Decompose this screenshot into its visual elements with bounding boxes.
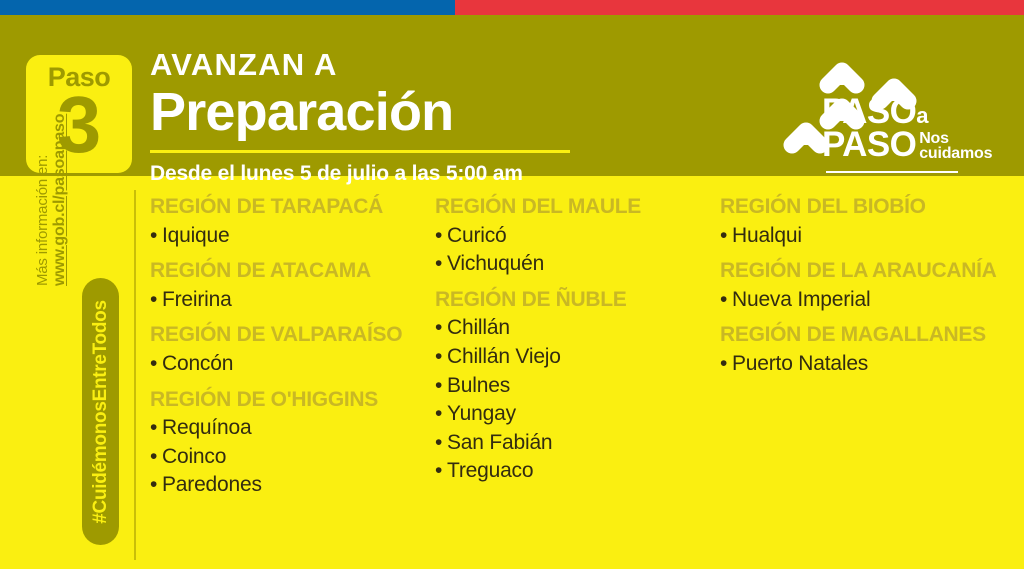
bullet-icon: • [435,457,447,486]
comuna-label: Hualqui [732,224,802,247]
region-column-2: REGIÓN DEL MAULE•Curicó•VichuquénREGIÓN … [435,196,720,558]
region-title: REGIÓN DE MAGALLANES [720,324,1018,347]
bullet-icon: • [435,314,447,343]
comuna-item: •Freirina [150,286,435,315]
header-divider [150,150,570,153]
comuna-label: Yungay [447,402,516,425]
bullet-icon: • [150,222,162,251]
region-block: REGIÓN DE O'HIGGINS•Requínoa•Coinco•Pare… [150,389,435,500]
comuna-item: •Chillán [435,314,720,343]
comuna-label: Chillán Viejo [447,345,561,368]
bullet-icon: • [435,400,447,429]
header-date: Desde el lunes 5 de julio a las 5:00 am [150,162,760,185]
comuna-label: Puerto Natales [732,352,868,375]
region-title: REGIÓN DE VALPARAÍSO [150,324,435,347]
comuna-item: •Vichuquén [435,250,720,279]
bullet-icon: • [435,250,447,279]
bullet-icon: • [150,443,162,472]
hashtag-label: #CuidémonosEntreTodos [90,300,112,523]
comuna-item: •Hualqui [720,222,1018,251]
bullet-icon: • [435,429,447,458]
region-title: REGIÓN DE TARAPACÁ [150,196,435,219]
region-column-3: REGIÓN DEL BIOBÍO•HualquiREGIÓN DE LA AR… [720,196,1018,558]
region-block: REGIÓN DE LA ARAUCANÍA•Nueva Imperial [720,260,1018,314]
comuna-item: •Iquique [150,222,435,251]
bullet-icon: • [150,471,162,500]
bullet-icon: • [720,286,732,315]
comuna-item: •Paredones [150,471,435,500]
header-text-block: AVANZAN A Preparación Desde el lunes 5 d… [150,49,760,185]
comuna-item: •Requínoa [150,414,435,443]
comuna-item: •Puerto Natales [720,350,1018,379]
logo-tagline-line-2: cuidamos [919,145,992,162]
comuna-item: •Coinco [150,443,435,472]
logo-a: a [916,103,928,128]
comuna-label: Curicó [447,224,506,247]
flag-stripe [0,0,1024,15]
region-block: REGIÓN DE MAGALLANES•Puerto Natales [720,324,1018,378]
comuna-item: •Treguaco [435,457,720,486]
region-title: REGIÓN DE O'HIGGINS [150,389,435,412]
comuna-label: Chillán [447,316,510,339]
bullet-icon: • [720,350,732,379]
logo-tagline: Noscuidamos [919,131,992,162]
comuna-item: •San Fabián [435,429,720,458]
comuna-item: •Bulnes [435,372,720,401]
more-info-text: Más información en: www.gob.cl/pasoapaso [34,76,70,286]
comuna-item: •Curicó [435,222,720,251]
region-title: REGIÓN DE ÑUBLE [435,289,720,312]
chevron-top-left-icon [828,71,856,85]
page-title: Preparación [150,84,760,140]
comuna-item: •Concón [150,350,435,379]
region-block: REGIÓN DEL MAULE•Curicó•Vichuquén [435,196,720,279]
region-title: REGIÓN DE ATACAMA [150,260,435,283]
region-title: REGIÓN DEL MAULE [435,196,720,219]
comuna-label: Treguaco [447,459,533,482]
region-block: REGIÓN DE ÑUBLE•Chillán•Chillán Viejo•Bu… [435,289,720,486]
comuna-label: San Fabián [447,431,552,454]
region-title: REGIÓN DE LA ARAUCANÍA [720,260,1018,283]
bullet-icon: • [150,414,162,443]
comuna-label: Concón [162,352,233,375]
logo-wordmark: PASOa PASONoscuidamos [822,96,992,162]
more-info-label: Más información en: [34,76,51,286]
bullet-icon: • [720,222,732,251]
bullet-icon: • [150,350,162,379]
bullet-icon: • [435,343,447,372]
more-info-url[interactable]: www.gob.cl/pasoapaso [51,76,69,286]
comuna-label: Nueva Imperial [732,288,870,311]
comuna-item: •Nueva Imperial [720,286,1018,315]
comuna-label: Coinco [162,445,226,468]
region-column-1: REGIÓN DE TARAPACÁ•IquiqueREGIÓN DE ATAC… [150,196,435,558]
comuna-item: •Chillán Viejo [435,343,720,372]
bullet-icon: • [435,222,447,251]
comuna-label: Paredones [162,473,262,496]
logo-tagline-line-1: Nos [919,130,949,147]
logo-line-2: PASONoscuidamos [822,129,992,162]
region-block: REGIÓN DEL BIOBÍO•Hualqui [720,196,1018,250]
comuna-label: Iquique [162,224,230,247]
logo-underline [826,171,958,173]
header-band: Paso 3 AVANZAN A Preparación Desde el lu… [0,15,1024,176]
bullet-icon: • [435,372,447,401]
flag-stripe-blue [0,0,455,15]
region-block: REGIÓN DE ATACAMA•Freirina [150,260,435,314]
comuna-label: Vichuquén [447,252,544,275]
comuna-label: Bulnes [447,374,510,397]
paso-a-paso-poster: Paso 3 AVANZAN A Preparación Desde el lu… [0,0,1024,569]
logo-paso-2: PASO [822,125,916,164]
rail-vertical-divider [134,190,136,560]
left-rail: Más información en: www.gob.cl/pasoapaso… [0,176,136,569]
hashtag-pill: #CuidémonosEntreTodos [82,278,119,545]
header-kicker: AVANZAN A [150,49,760,82]
logo-line-1: PASOa [822,96,992,128]
regions-columns: REGIÓN DE TARAPACÁ•IquiqueREGIÓN DE ATAC… [150,196,1018,558]
paso-a-paso-logo: PASOa PASONoscuidamos [780,49,1000,177]
comuna-item: •Yungay [435,400,720,429]
region-block: REGIÓN DE TARAPACÁ•Iquique [150,196,435,250]
comuna-label: Freirina [162,288,232,311]
flag-stripe-red [455,0,1024,15]
chevron-bottom-icon [792,131,820,145]
region-title: REGIÓN DEL BIOBÍO [720,196,1018,219]
comuna-label: Requínoa [162,416,251,439]
region-block: REGIÓN DE VALPARAÍSO•Concón [150,324,435,378]
bullet-icon: • [150,286,162,315]
